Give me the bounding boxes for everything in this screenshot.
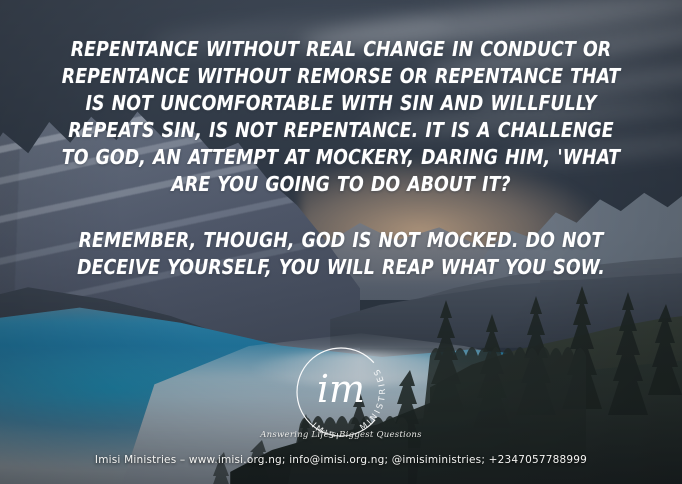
logo-monogram: im	[317, 367, 365, 411]
brand-logo: im MINISTRIES IMISI	[289, 340, 393, 444]
quote-paragraph-1: REPENTANCE WITHOUT REAL CHANGE IN CONDUC…	[54, 36, 627, 198]
footer-credits: Imisi Ministries – www.imisi.org.ng; inf…	[0, 454, 682, 466]
quote-paragraph-2: REMEMBER, THOUGH, GOD IS NOT MOCKED. DO …	[54, 227, 627, 281]
quote-poster: REPENTANCE WITHOUT REAL CHANGE IN CONDUC…	[0, 0, 682, 484]
quote-block: REPENTANCE WITHOUT REAL CHANGE IN CONDUC…	[0, 36, 682, 281]
brand-tagline: Answering Life's Biggest Questions	[0, 430, 682, 440]
imisi-ministries-logo-icon: im MINISTRIES IMISI	[289, 340, 393, 444]
